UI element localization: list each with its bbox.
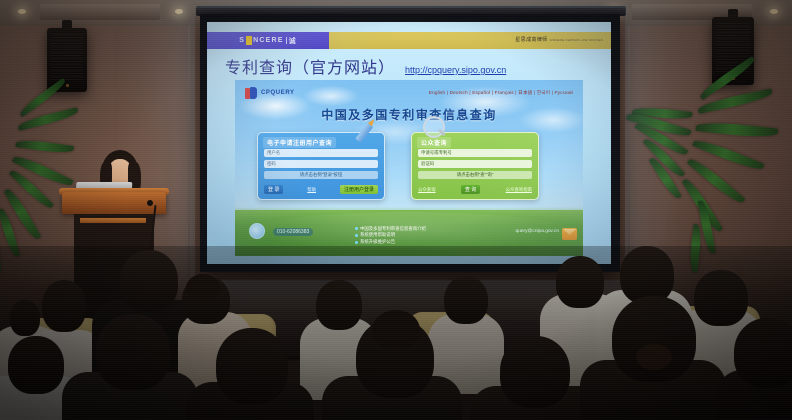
- public-query-link-2[interactable]: 公众查询指南: [506, 187, 532, 193]
- podium-trim: [80, 218, 146, 223]
- slide-url-link[interactable]: http://cpquery.sipo.gov.cn: [405, 65, 506, 75]
- footer-link-3[interactable]: 系统升级维护公告: [355, 239, 426, 246]
- ceiling-light: [18, 9, 26, 14]
- speaker-led: [66, 84, 69, 87]
- audience-head: [316, 280, 362, 330]
- audience-hair-bun: [372, 310, 420, 350]
- cpquery-logo-icon: [245, 87, 258, 100]
- slide-brand-bar: S NCERE 诚 星思成高律师 SINCERE CERTAIN LAW OFF…: [207, 32, 611, 49]
- audience-head: [556, 256, 604, 308]
- audience: [0, 252, 792, 420]
- panel-left-buttons: 登 录 帮助 注册用户登录: [264, 185, 378, 194]
- wall-speaker-left: [47, 28, 87, 92]
- audience-head: [10, 300, 40, 336]
- public-query-panel: 公众查询 申请号或专利号 验证码 请点击右侧“查”“询” 公众查询 查 询 公众…: [411, 132, 539, 200]
- conference-room-photo: S NCERE 诚 星思成高律师 SINCERE CERTAIN LAW OFF…: [0, 0, 792, 420]
- site-heading: 中国及多国专利审查信息查询: [235, 106, 583, 123]
- logo-divider: [286, 37, 287, 44]
- password-input[interactable]: 密码: [264, 160, 378, 168]
- audience-head: [120, 250, 178, 312]
- audience-head: [694, 270, 748, 326]
- help-link[interactable]: 帮助: [307, 187, 316, 193]
- login-hint-text: 请点击右侧“登录”按钮: [264, 171, 378, 179]
- slide-title-cn: 专利查询（官方网站）: [225, 54, 395, 78]
- phone-icon: [249, 223, 265, 239]
- support-phone: 010-62086383: [273, 228, 313, 236]
- site-header: CPQUERY English | Deutsch | Español | Fr…: [235, 84, 583, 102]
- firm-name-en: SINCERE CERTAIN LAW OFFICES: [549, 38, 603, 42]
- captcha-input[interactable]: 验证码: [418, 160, 532, 168]
- firm-name-block: 星思成高律师 SINCERE CERTAIN LAW OFFICES: [329, 32, 611, 49]
- language-links[interactable]: English | Deutsch | Español | Français |…: [429, 90, 573, 96]
- firm-name-cn: 星思成高律师: [515, 37, 547, 43]
- audience-head: [8, 336, 64, 394]
- register-button[interactable]: 注册用户登录: [340, 185, 378, 194]
- audience-hair-bun: [186, 274, 220, 302]
- projection-screen: S NCERE 诚 星思成高律师 SINCERE CERTAIN LAW OFF…: [207, 22, 611, 264]
- slide-title: 专利查询（官方网站） http://cpquery.sipo.gov.cn: [225, 54, 506, 78]
- audience-head: [444, 276, 488, 324]
- cpquery-logo: CPQUERY: [245, 87, 295, 100]
- presentation-slide: S NCERE 诚 星思成高律师 SINCERE CERTAIN LAW OFF…: [207, 22, 611, 264]
- application-number-input[interactable]: 申请号或专利号: [418, 149, 532, 157]
- footer-link-3-label: 系统升级维护公告: [360, 239, 395, 244]
- footer-links: 中国及多国专利审查信息查询介绍 系统使用帮助说明 系统升级维护公告: [355, 226, 426, 246]
- audience-hair-bun: [636, 344, 672, 370]
- public-query-link-1[interactable]: 公众查询: [418, 187, 436, 193]
- panel-right-fields: 申请号或专利号 验证码 请点击右侧“查”“询”: [418, 149, 532, 182]
- footer-link-2-label: 系统使用帮助说明: [360, 232, 395, 237]
- ceiling-light: [770, 9, 778, 14]
- query-button[interactable]: 查 询: [461, 185, 480, 194]
- audience-head: [96, 314, 170, 390]
- username-input[interactable]: 用户名: [264, 149, 378, 157]
- query-hint-text: 请点击右侧“查”“询”: [418, 171, 532, 179]
- panel-right-buttons: 公众查询 查 询 公众查询指南: [418, 185, 532, 194]
- logo-text-b: NCERE: [253, 37, 284, 44]
- footer-link-1-label: 中国及多国专利审查信息查询介绍: [360, 226, 426, 231]
- audience-head: [216, 328, 288, 404]
- logo-mark-icon: [246, 36, 252, 45]
- bullet-icon: [355, 227, 358, 230]
- bullet-icon: [355, 241, 358, 244]
- panel-left-title: 电子申请注册用户查询: [263, 137, 336, 148]
- cpquery-website-capture: CPQUERY English | Deutsch | Español | Fr…: [235, 80, 583, 256]
- logo-text-a: S: [239, 37, 245, 44]
- panel-left-fields: 用户名 密码 请点击右侧“登录”按钮: [264, 149, 378, 182]
- cpquery-logo-text: CPQUERY: [261, 90, 295, 96]
- speaker-grill: [51, 34, 83, 80]
- envelope-icon: [562, 228, 577, 240]
- logo-text-c: 诚: [289, 36, 297, 46]
- login-button[interactable]: 登 录: [264, 185, 283, 194]
- microphone-head: [147, 200, 153, 206]
- audience-head: [734, 318, 792, 388]
- bullet-icon: [355, 234, 358, 237]
- ceiling-light: [175, 9, 183, 14]
- audience-head: [42, 280, 86, 332]
- support-email: query@cnipa.gov.cn: [516, 229, 559, 234]
- magnifier-icon: [423, 116, 447, 140]
- ceiling-vent-left: [40, 4, 160, 20]
- sincere-logo: S NCERE 诚: [207, 32, 329, 49]
- audience-head: [500, 336, 570, 408]
